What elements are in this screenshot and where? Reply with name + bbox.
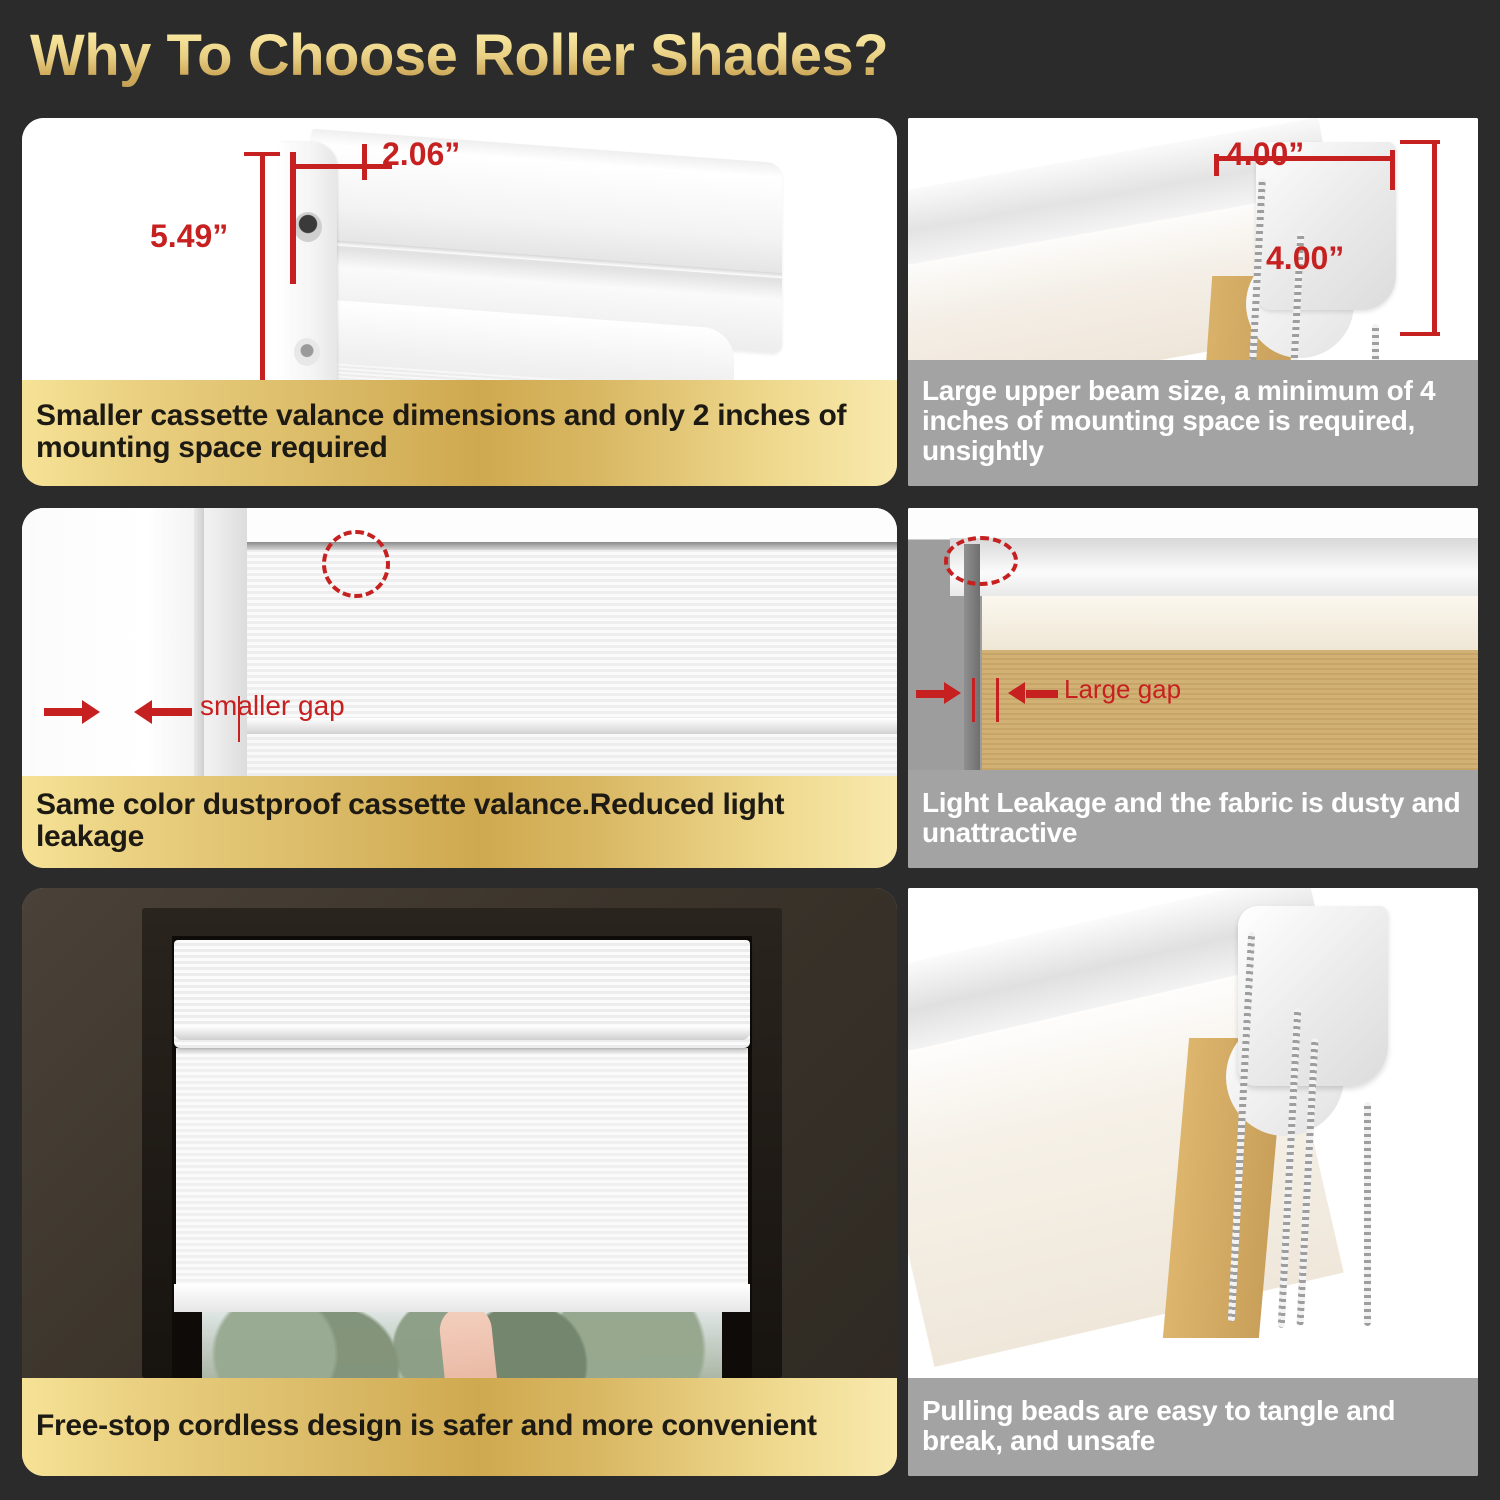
cassette-valance-lip [174,1026,750,1040]
gap-arrow-left-shaft [916,690,946,698]
gap-arrow-right-shaft [152,708,192,716]
caption-bar-con-leakage: Light Leakage and the fabric is dusty an… [908,770,1478,868]
valance-knob-icon [294,212,322,242]
window-frame-edge [194,508,204,776]
caption-bar-pro-dustproof: Same color dustproof cassette valance.Re… [22,776,897,868]
roller-shade-fabric [176,1048,748,1298]
dim-tick-right [362,144,367,180]
panel-con-light-leakage[interactable]: Large gap Light Leakage and the fabric i… [908,508,1478,868]
panel-con-pulling-beads[interactable]: Pulling beads are easy to tangle and bre… [908,888,1478,1476]
photo-smaller-gap: smaller gap [22,508,897,776]
valance-illustration: 2.06” 5.49” [22,118,897,380]
gap-arrow-left-head [82,700,100,724]
gap-label-smaller: smaller gap [200,690,345,722]
caption-bar-con-beam: Large upper beam size, a minimum of 4 in… [908,360,1478,486]
bottom-rail [174,1284,750,1312]
gap-arrow-right-shaft [1026,690,1058,698]
panel-pro-cassette-dimensions[interactable]: 2.06” 5.49” Smaller cassette valance dim… [22,118,897,486]
gap-marker-line-1 [972,678,975,722]
dim-cap-beam-bottom [1400,332,1440,336]
window-frame [22,508,247,776]
panel-pro-free-stop-cordless[interactable]: Free-stop cordless design is safer and m… [22,888,897,1476]
caption-text: Same color dustproof cassette valance.Re… [36,789,883,853]
photo-cassette-valance: 2.06” 5.49” [22,118,897,380]
dimension-height-label: 5.49” [150,218,228,255]
highlight-circle-icon [944,536,1018,586]
panel-pro-dustproof-cassette[interactable]: smaller gap Same color dustproof cassett… [22,508,897,868]
gap-label-large: Large gap [1064,674,1181,705]
caption-bar-pro-cassette: Smaller cassette valance dimensions and … [22,380,897,486]
caption-text: Light Leakage and the fabric is dusty an… [922,788,1464,847]
dimension-beam-width-label: 4.00” [1226,136,1304,173]
caption-text: Large upper beam size, a minimum of 4 in… [922,376,1464,465]
dim-tick-left [290,152,296,284]
photo-large-gap: Large gap [908,508,1478,770]
photo-large-beam: 4.00” 4.00” [908,118,1478,360]
dim-line-beam-height [1432,140,1437,336]
gap-arrow-left-head [944,682,961,704]
infographic-page: Why To Choose Roller Shades? 2.06” [0,0,1500,1500]
dim-cap-top [244,152,280,156]
shade-lower-fabric [247,734,897,776]
cream-band [982,588,1478,650]
panel-con-large-upper-beam[interactable]: 4.00” 4.00” Large upper beam size, a min… [908,118,1478,486]
caption-bar-pro-cordless: Free-stop cordless design is safer and m… [22,1378,897,1476]
highlight-circle-icon [322,530,390,598]
caption-text: Smaller cassette valance dimensions and … [36,400,883,464]
dim-cap-beam-top [1400,140,1440,144]
caption-bar-con-beads: Pulling beads are easy to tangle and bre… [908,1378,1478,1476]
bead-chain-4 [1364,1102,1371,1326]
gap-marker-line-2 [996,678,999,722]
gap-arrow-left-shaft [44,708,84,716]
dusty-gold-fabric [982,650,1478,770]
photo-pulling-beads [908,888,1478,1378]
caption-text: Free-stop cordless design is safer and m… [36,1410,817,1442]
caption-text: Pulling beads are easy to tangle and bre… [922,1396,1464,1455]
gap-arrow-right-head [134,700,152,724]
dim-line-height [260,152,265,380]
white-roller-tube [950,538,1478,596]
dimension-beam-height-label: 4.00” [1266,240,1344,277]
dimension-width-label: 2.06” [382,136,460,173]
gap-arrow-right-head [1008,682,1025,704]
valance-screw-icon [294,338,320,366]
photo-window-scene [22,888,897,1378]
bead-chain-3 [1372,324,1379,360]
comparison-grid: 2.06” 5.49” Smaller cassette valance dim… [0,0,1500,1500]
dim-line-width [296,164,392,169]
dim-tick-beam-right [1390,150,1395,190]
